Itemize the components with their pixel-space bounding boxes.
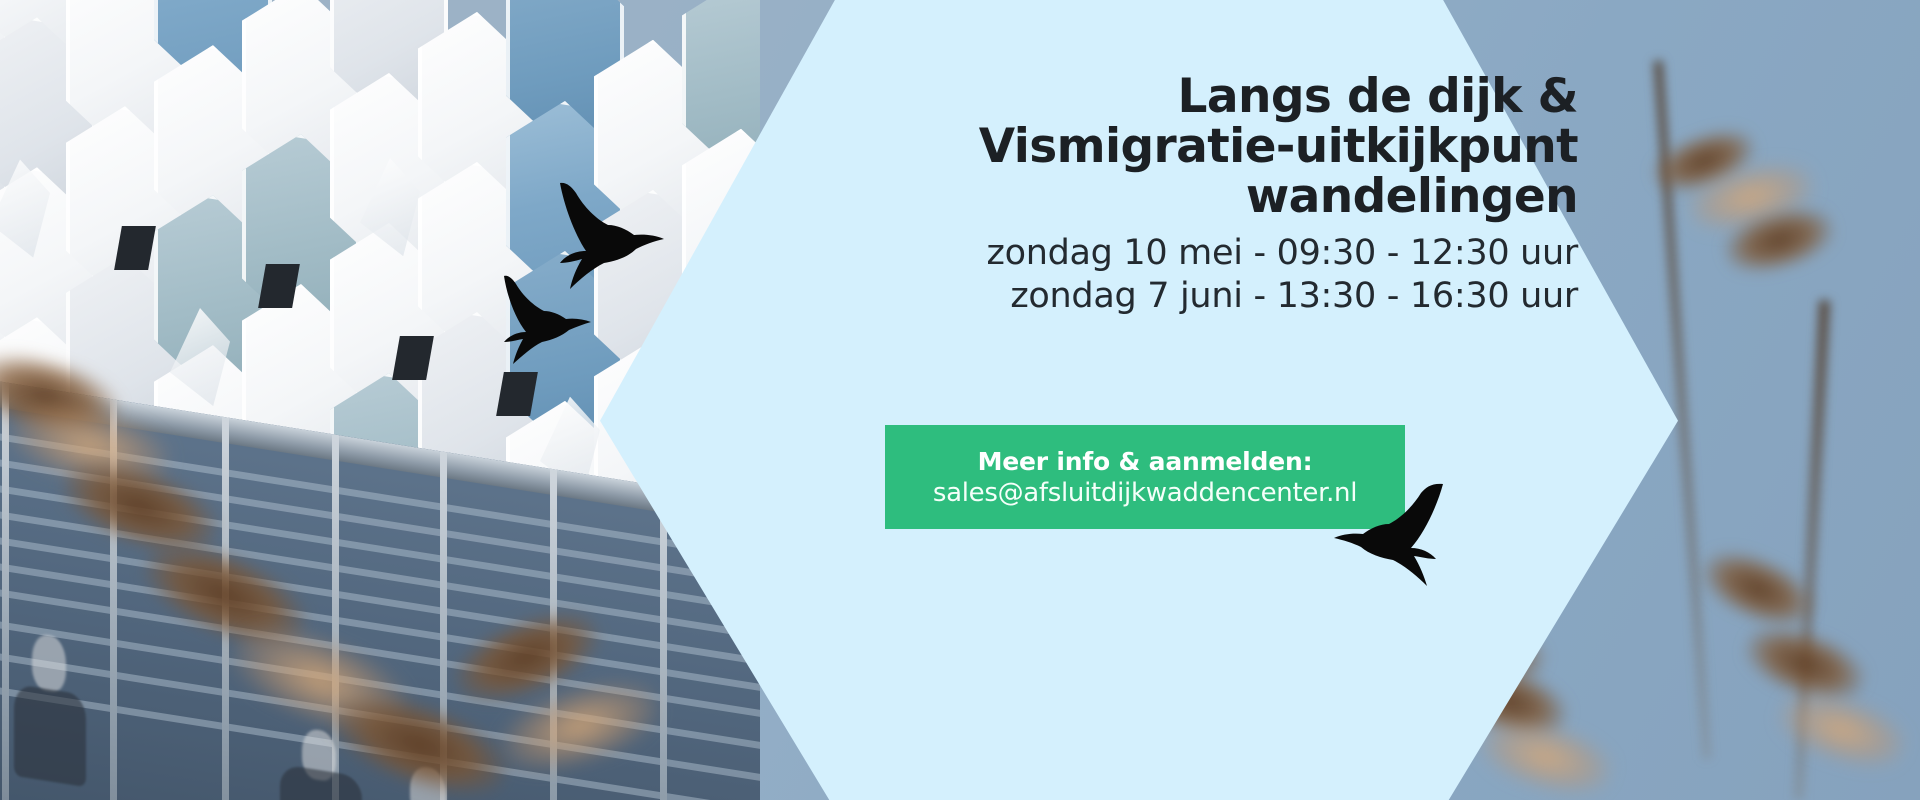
bird-silhouette-icon — [470, 270, 592, 372]
contact-email-link[interactable]: sales@afsluitdijkwaddencenter.nl — [933, 477, 1357, 509]
signup-cta-box[interactable]: Meer info & aanmelden: sales@afsluitdijk… — [885, 425, 1405, 529]
banner-content: Langs de dijk & Vismigratie-uitkijkpunt … — [600, 0, 1680, 800]
page-title: Langs de dijk & Vismigratie-uitkijkpunt … — [600, 72, 1578, 222]
headline-line-1: Langs de dijk & — [600, 72, 1578, 122]
event-date-2: zondag 7 juni - 13:30 - 16:30 uur — [600, 275, 1578, 318]
headline-line-3: wandelingen — [600, 172, 1578, 222]
event-schedule: zondag 10 mei - 09:30 - 12:30 uur zondag… — [600, 232, 1578, 318]
promo-banner: Langs de dijk & Vismigratie-uitkijkpunt … — [0, 0, 1920, 800]
headline-line-2: Vismigratie-uitkijkpunt — [600, 122, 1578, 172]
cta-title: Meer info & aanmelden: — [978, 446, 1313, 477]
bird-silhouette-icon — [1333, 478, 1465, 590]
event-date-1: zondag 10 mei - 09:30 - 12:30 uur — [600, 232, 1578, 275]
